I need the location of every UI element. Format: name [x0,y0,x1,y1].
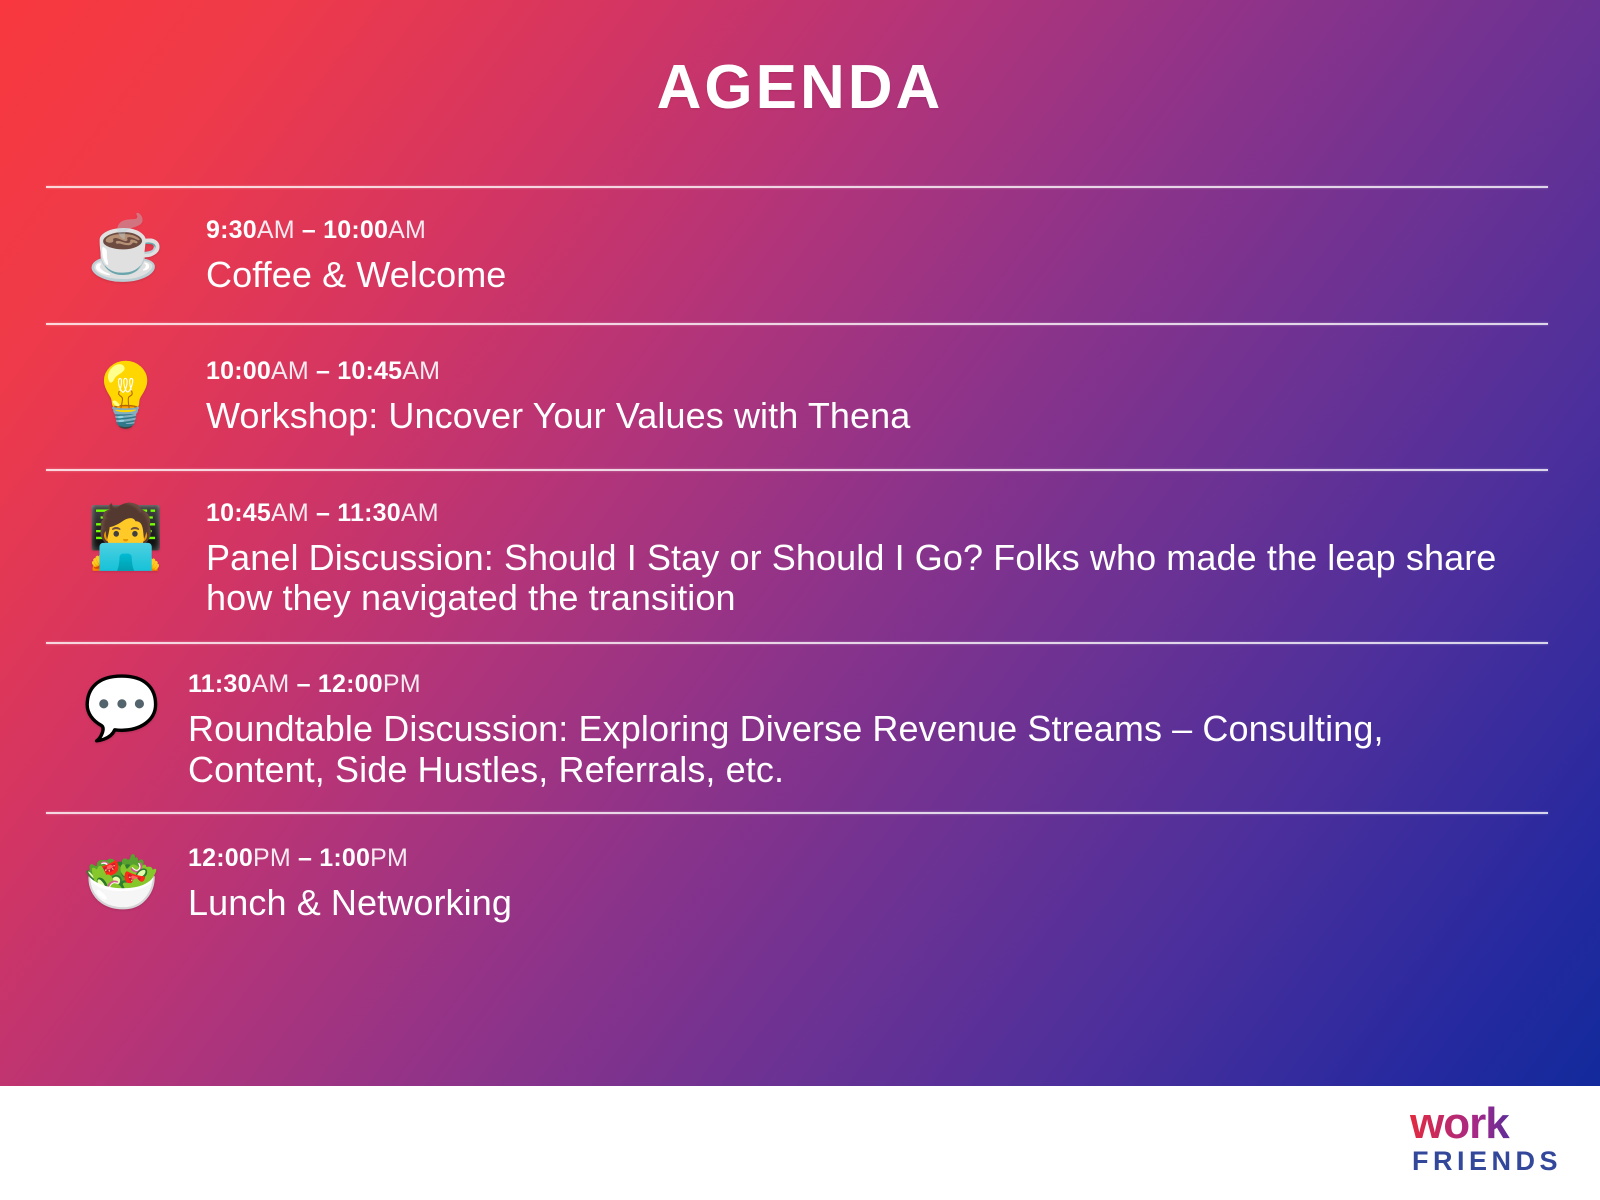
agenda-item-end-meridiem: AM [402,357,440,385]
agenda-item-body: 10:00AM – 10:45AM Workshop: Uncover Your… [206,357,1548,436]
agenda-item-icon-wrapper: 💡 [46,357,206,427]
agenda-item-icon-wrapper: 💬 [46,670,198,740]
agenda-item-icon-wrapper: ☕ [46,216,206,280]
agenda-item-separator: – [302,216,316,244]
gradient-background: AGENDA ☕ 9:30AM – 10:00AM Coffee & Welco… [0,0,1600,1086]
agenda-item-roundtable-discussion[interactable]: 💬 11:30AM – 12:00PM Roundtable Discussio… [46,644,1548,812]
agenda-item-start-meridiem: AM [271,357,309,385]
agenda-slide: AGENDA ☕ 9:30AM – 10:00AM Coffee & Welco… [0,0,1600,1200]
green-salad-icon: 🥗 [83,852,160,914]
agenda-item-start-meridiem: AM [252,670,290,698]
agenda-item-start-time: 10:45 [206,499,271,527]
agenda-item-coffee-welcome[interactable]: ☕ 9:30AM – 10:00AM Coffee & Welcome [46,188,1548,323]
brand-logo: work FRIENDS [1410,1102,1562,1175]
agenda-item-start-time: 9:30 [206,216,257,244]
agenda-item-time: 10:45AM – 11:30AM [206,499,1528,528]
agenda-item-end-meridiem: PM [370,844,408,872]
hot-beverage-icon: ☕ [87,218,164,280]
agenda-item-lunch-networking[interactable]: 🥗 12:00PM – 1:00PM Lunch & Networking [46,814,1548,949]
agenda-item-start-meridiem: AM [271,499,309,527]
agenda-item-end-meridiem: AM [401,499,439,527]
agenda-item-icon-wrapper: 🧑‍💻 [46,499,206,569]
agenda-item-end-meridiem: AM [388,216,426,244]
agenda-item-body: 12:00PM – 1:00PM Lunch & Networking [188,844,1548,923]
agenda-item-body: 9:30AM – 10:00AM Coffee & Welcome [206,216,1548,295]
light-bulb-icon: 💡 [87,365,164,427]
agenda-item-separator: – [297,670,311,698]
agenda-item-time: 12:00PM – 1:00PM [188,844,1528,873]
agenda-item-end-time: 10:00 [323,216,388,244]
agenda-item-separator: – [316,499,330,527]
agenda-item-body: 11:30AM – 12:00PM Roundtable Discussion:… [188,670,1548,790]
agenda-item-end-meridiem: PM [383,670,421,698]
agenda-item-separator: – [298,844,312,872]
agenda-item-body: 10:45AM – 11:30AM Panel Discussion: Shou… [206,499,1548,619]
technologist-icon: 🧑‍💻 [87,507,164,569]
logo-word-work: work [1410,1102,1562,1146]
agenda-item-start-meridiem: PM [253,844,291,872]
agenda-item-icon-wrapper: 🥗 [46,844,198,914]
page-title: AGENDA [0,54,1600,122]
agenda-list: ☕ 9:30AM – 10:00AM Coffee & Welcome 💡 [46,186,1548,949]
agenda-item-time: 10:00AM – 10:45AM [206,357,1528,386]
agenda-item-end-time: 10:45 [337,357,402,385]
agenda-item-description: Roundtable Discussion: Exploring Diverse… [188,709,1528,790]
speech-balloon-icon: 💬 [83,678,160,740]
footer-bar: work FRIENDS [0,1086,1600,1200]
agenda-item-end-time: 1:00 [319,844,370,872]
agenda-item-time: 9:30AM – 10:00AM [206,216,1528,245]
agenda-item-time: 11:30AM – 12:00PM [188,670,1528,699]
agenda-item-end-time: 11:30 [337,499,401,527]
agenda-item-description: Lunch & Networking [188,883,1528,923]
agenda-item-start-time: 10:00 [206,357,271,385]
agenda-item-start-time: 12:00 [188,844,253,872]
logo-word-friends: FRIENDS [1412,1148,1562,1175]
agenda-item-description: Coffee & Welcome [206,255,1528,295]
agenda-item-workshop[interactable]: 💡 10:00AM – 10:45AM Workshop: Uncover Yo… [46,325,1548,468]
agenda-item-start-time: 11:30 [188,670,252,698]
agenda-item-end-time: 12:00 [318,670,383,698]
agenda-item-separator: – [316,357,330,385]
agenda-item-description: Panel Discussion: Should I Stay or Shoul… [206,538,1528,619]
agenda-item-start-meridiem: AM [257,216,295,244]
agenda-item-panel-discussion[interactable]: 🧑‍💻 10:45AM – 11:30AM Panel Discussion: … [46,471,1548,643]
agenda-item-description: Workshop: Uncover Your Values with Thena [206,396,1528,436]
